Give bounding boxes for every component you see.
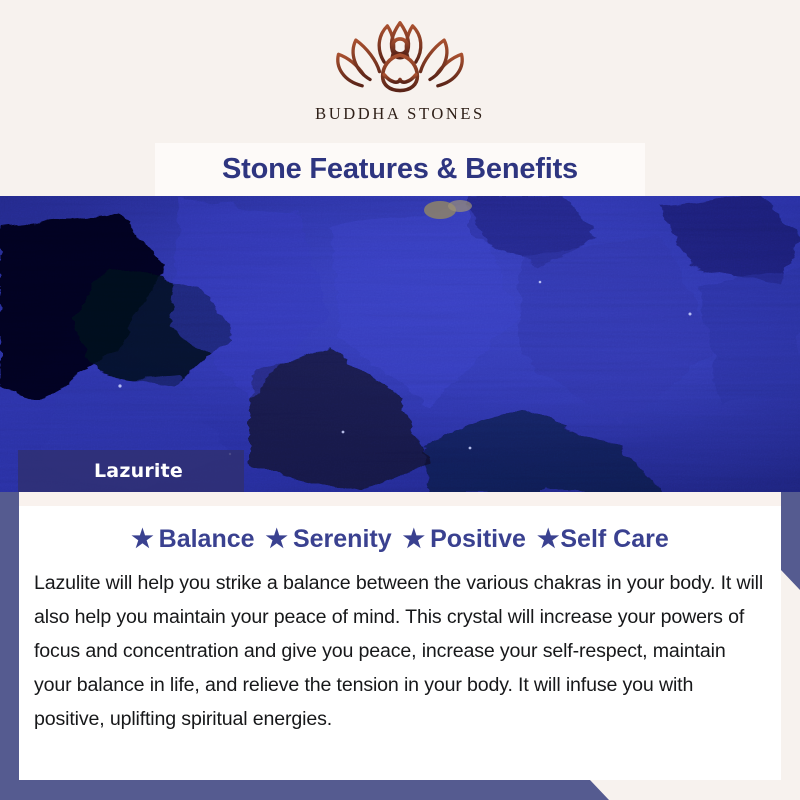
- stone-info-card: BUDDHA STONES Stone Features & Benefits: [0, 0, 800, 800]
- benefit-label: Positive: [430, 525, 526, 554]
- star-icon: ★: [537, 527, 559, 552]
- benefit-item-self-care: ★ Self Care: [537, 525, 669, 554]
- panel-right-accent: [781, 492, 800, 590]
- benefit-label: Self Care: [560, 525, 668, 554]
- brand-logo: BUDDHA STONES: [0, 18, 800, 124]
- benefit-item-serenity: ★ Serenity: [266, 525, 392, 554]
- stone-name: Lazurite: [94, 460, 183, 482]
- title-banner: Stone Features & Benefits: [155, 143, 645, 196]
- card-header: BUDDHA STONES Stone Features & Benefits: [0, 0, 800, 196]
- content-panel: ★ Balance ★ Serenity ★ Positive ★ Self C…: [19, 492, 781, 780]
- stone-description: Lazulite will help you strike a balance …: [34, 566, 766, 736]
- brand-name: BUDDHA STONES: [315, 104, 485, 124]
- lotus-meditation-icon: [320, 18, 480, 100]
- benefit-item-balance: ★ Balance: [131, 525, 254, 554]
- lazurite-stone-photo: [0, 196, 800, 492]
- star-icon: ★: [131, 527, 153, 552]
- page-title: Stone Features & Benefits: [222, 153, 578, 186]
- benefit-label: Serenity: [293, 525, 392, 554]
- benefit-label: Balance: [159, 525, 255, 554]
- panel-top-strip: [19, 492, 781, 506]
- stone-nameplate: Lazurite: [18, 450, 244, 492]
- benefit-item-positive: ★ Positive: [403, 525, 526, 554]
- panel-left-accent: [0, 492, 19, 590]
- star-icon: ★: [266, 527, 288, 552]
- benefits-row: ★ Balance ★ Serenity ★ Positive ★ Self C…: [19, 525, 781, 554]
- bottom-accent-band: [0, 780, 800, 800]
- star-icon: ★: [403, 527, 425, 552]
